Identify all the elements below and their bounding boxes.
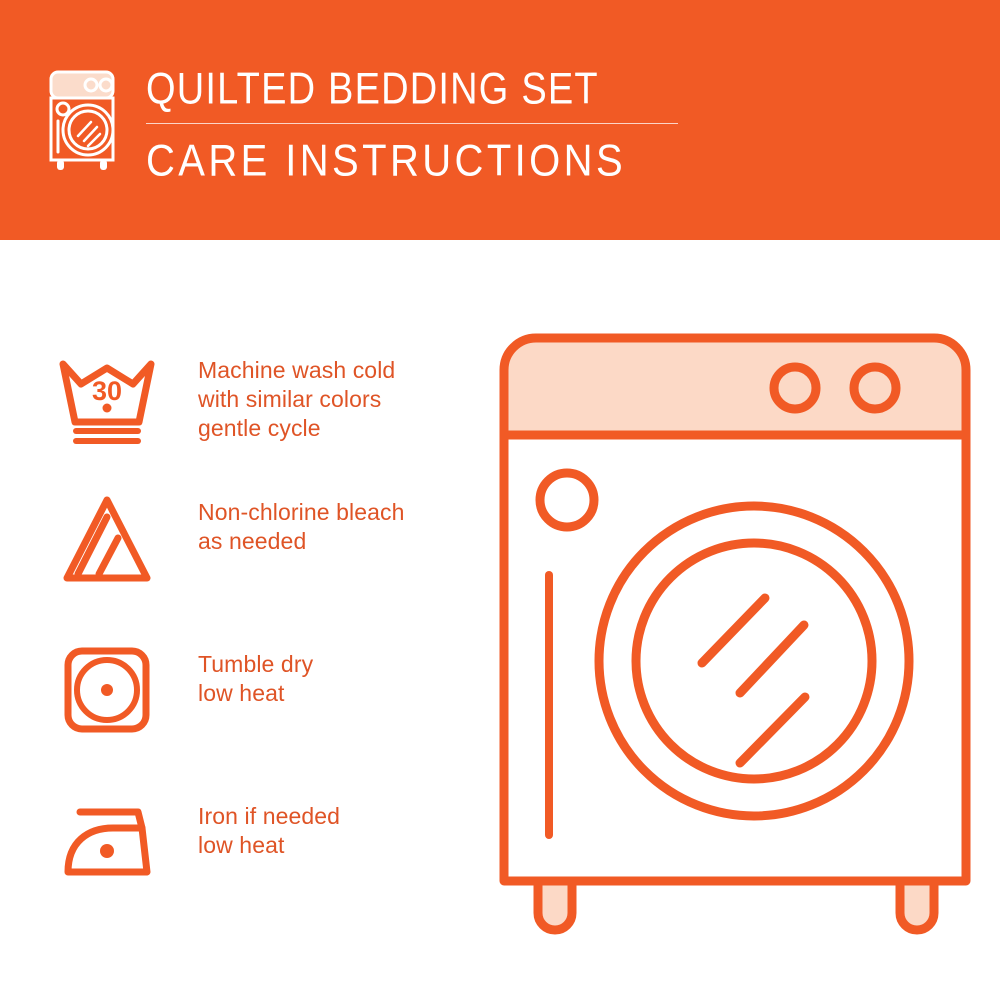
drum-slash-1 — [702, 598, 765, 663]
header-banner: QUILTED BEDDING SET CARE INSTRUCTIONS — [0, 0, 1000, 240]
wash-temperature-label: 30 — [92, 376, 122, 406]
title-divider — [146, 123, 678, 124]
care-line: Machine wash cold — [198, 356, 395, 385]
care-row-tumble-dry: Tumble dry low heat — [52, 640, 472, 744]
care-row-iron: Iron if needed low heat — [52, 792, 472, 896]
care-instruction-list: 30 Machine wash cold with similar colors… — [0, 240, 480, 1000]
indicator-light-icon — [540, 473, 594, 527]
machine-wash-30-icon: 30 — [52, 346, 162, 450]
care-line: as needed — [198, 527, 404, 556]
care-line: low heat — [198, 831, 340, 860]
care-text-tumble-dry: Tumble dry low heat — [198, 650, 313, 708]
care-line: with similar colors — [198, 385, 395, 414]
washing-machine-icon — [46, 66, 124, 174]
iron-low-heat-icon — [52, 792, 162, 896]
page-subtitle: CARE INSTRUCTIONS — [146, 135, 678, 187]
care-line: Tumble dry — [198, 650, 313, 679]
machine-leg-right — [900, 881, 934, 930]
care-line: Iron if needed — [198, 802, 340, 831]
care-row-machine-wash: 30 Machine wash cold with similar colors… — [52, 346, 472, 450]
care-line: gentle cycle — [198, 414, 395, 443]
tumble-dry-low-heat-icon — [52, 640, 162, 744]
non-chlorine-bleach-triangle-icon — [52, 488, 162, 592]
care-line: Non-chlorine bleach — [198, 498, 404, 527]
care-text-bleach: Non-chlorine bleach as needed — [198, 498, 404, 556]
care-text-iron: Iron if needed low heat — [198, 802, 340, 860]
care-line: low heat — [198, 679, 313, 708]
drum-slash-2 — [740, 625, 804, 693]
machine-leg-left — [538, 881, 572, 930]
front-load-washing-machine-illustration — [490, 325, 980, 940]
drum-outer-ring — [599, 506, 909, 816]
page-title: QUILTED BEDDING SET — [146, 62, 678, 116]
drum-slash-3 — [740, 697, 805, 763]
header-content: QUILTED BEDDING SET CARE INSTRUCTIONS — [46, 62, 678, 181]
care-row-bleach: Non-chlorine bleach as needed — [52, 488, 472, 592]
care-instructions-page: QUILTED BEDDING SET CARE INSTRUCTIONS 30… — [0, 0, 1000, 1000]
care-text-machine-wash: Machine wash cold with similar colors ge… — [198, 356, 395, 443]
header-title-block: QUILTED BEDDING SET CARE INSTRUCTIONS — [146, 62, 678, 181]
